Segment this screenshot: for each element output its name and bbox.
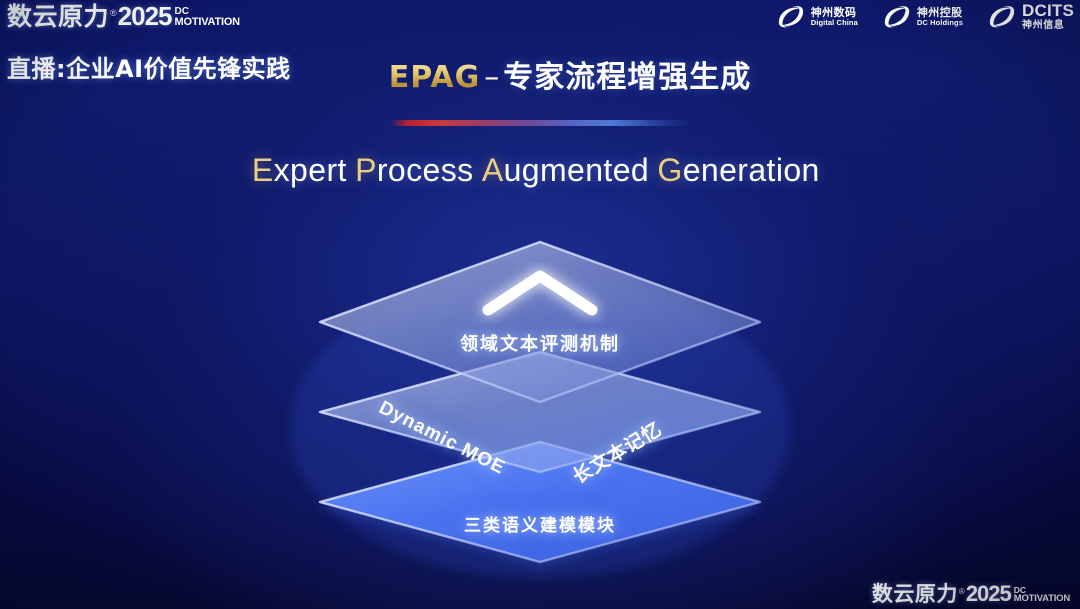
expansion-word-generation: Generation — [657, 152, 819, 188]
partner-name-en: Digital China — [811, 19, 858, 27]
expansion-remainder: rocess — [377, 152, 474, 188]
partner-logo-text: 神州数码 Digital China — [811, 7, 858, 26]
partner-name-cn: 神州控股 — [917, 7, 963, 18]
title-subtitle-cn: 专家流程增强生成 — [503, 60, 751, 95]
title-dash: – — [484, 60, 499, 95]
title-acronym: EPAG — [389, 60, 481, 95]
expansion-initial: P — [355, 152, 377, 188]
brand-lockup: 数云原力 ® 2025 DC MOTIVATION — [7, 3, 307, 29]
partner-name-en: DCITS — [1022, 1, 1074, 20]
watermark-registered-mark: ® — [959, 588, 965, 596]
brand-year: 2025 — [118, 3, 172, 29]
expansion-word-expert: Expert — [252, 152, 347, 188]
swoosh-logo-icon — [882, 4, 912, 30]
brand-dc-motivation: DC MOTIVATION — [175, 7, 240, 27]
watermark-year: 2025 — [966, 583, 1011, 605]
partner-name-cn: 神州信息 — [1022, 21, 1074, 31]
watermark-dc-motivation: DC MOTIVATION — [1014, 586, 1070, 603]
expansion-word-process: Process — [355, 152, 473, 188]
partner-logo-digital-china: 神州数码 Digital China — [776, 4, 858, 30]
brand-row: 数云原力 ® 2025 DC MOTIVATION — [7, 3, 307, 29]
expansion-word-augmented: Augmented — [482, 152, 649, 188]
footer-watermark: 数云原力 ® 2025 DC MOTIVATION — [872, 583, 1070, 605]
partner-name-cn: 神州数码 — [811, 7, 858, 18]
layer-stack-diagram: 领域文本评测机制 Dynamic MOE 长文本记忆 三类语义建模模块 — [292, 228, 788, 588]
watermark-motivation-text: MOTIVATION — [1014, 594, 1070, 603]
watermark-name-cn: 数云原力 — [872, 584, 958, 605]
partner-logo-text: DCITS 神州信息 — [1022, 2, 1074, 32]
expansion-initial: E — [252, 152, 274, 188]
gradient-divider — [390, 120, 690, 126]
partner-logo-text: 神州控股 DC Holdings — [917, 7, 963, 26]
partner-logo-group: 神州数码 Digital China 神州控股 DC Holdings — [776, 2, 1074, 32]
brand-name-cn: 数云原力 — [7, 4, 109, 29]
brand-motivation-text: MOTIVATION — [175, 17, 240, 27]
partner-logo-dcits: DCITS 神州信息 — [987, 2, 1074, 32]
acronym-expansion: ExpertProcessAugmentedGeneration — [0, 152, 1080, 189]
expansion-initial: G — [657, 152, 682, 188]
swoosh-logo-icon — [987, 4, 1017, 30]
expansion-initial: A — [482, 152, 504, 188]
expansion-remainder: xpert — [274, 152, 347, 188]
page-title: EPAG–专家流程增强生成 — [0, 52, 1080, 96]
partner-logo-dc-holdings: 神州控股 DC Holdings — [882, 4, 963, 30]
slide-canvas: 数云原力 ® 2025 DC MOTIVATION 直播:企业AI价值先锋实践 … — [0, 0, 1080, 609]
swoosh-logo-icon — [776, 4, 806, 30]
partner-name-en: DC Holdings — [917, 19, 963, 27]
expansion-remainder: ugmented — [504, 152, 650, 188]
layer-stack-svg — [292, 228, 788, 588]
brand-registered-mark: ® — [110, 9, 117, 18]
expansion-remainder: eneration — [683, 152, 820, 188]
